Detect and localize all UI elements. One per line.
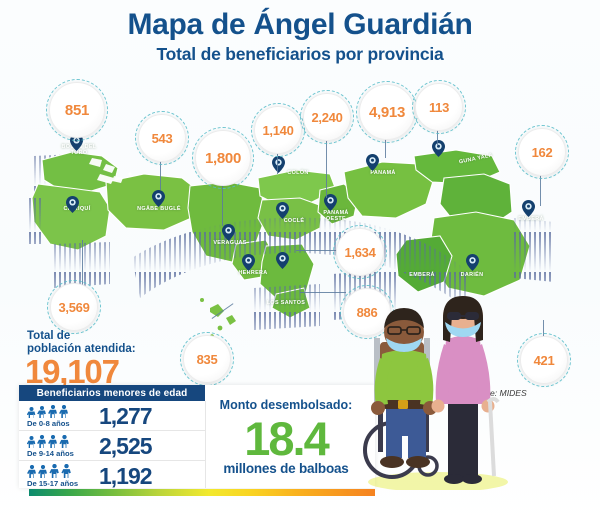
adult-icon: [37, 435, 47, 448]
map-pin-herrera[interactable]: [242, 254, 255, 271]
age-count-value: 1,192: [99, 463, 152, 490]
bubble-veraguas[interactable]: 1,800: [195, 130, 251, 186]
bubble-embera[interactable]: 162: [518, 128, 566, 176]
map-pin-veraguas[interactable]: [222, 224, 235, 241]
map-label-panama-oeste: PANAMÁOESTE: [312, 210, 360, 223]
child-icon: [27, 436, 36, 448]
map-pin-ngabe-bugle[interactable]: [152, 190, 165, 207]
adult-icon: [48, 435, 58, 448]
map-pin-guna-yala[interactable]: [432, 140, 445, 157]
map-pin-panama[interactable]: [366, 154, 379, 171]
bubble-stem-los-santos: [300, 292, 346, 293]
child-icon: [27, 407, 36, 418]
bubble-chiriqui[interactable]: 3,569: [50, 283, 98, 331]
illustration-wheelchair-user-and-caregiver: [362, 274, 508, 490]
bubble-stem-panama-oeste: [326, 136, 327, 198]
infographic-root: Mapa de Ángel Guardián Total de benefici…: [0, 0, 600, 526]
age-table: Beneficiarios menores de edad De 0-8 año…: [19, 385, 205, 490]
map-pin-cocle[interactable]: [276, 202, 289, 219]
page-title: Mapa de Ángel Guardián: [0, 8, 600, 42]
family-icon-group: [27, 404, 69, 418]
map-pin-chiriqui[interactable]: [66, 196, 79, 213]
table-row: De 0-8 años 1,277: [19, 401, 205, 431]
adult-icon: [59, 435, 70, 448]
adult-icon: [49, 464, 60, 478]
map-pin-embera[interactable]: [522, 200, 535, 217]
azuero-hatch: [254, 284, 320, 330]
table-row: De 9-14 años 2,525: [19, 431, 205, 461]
bubble-panama-oeste[interactable]: 2,240: [303, 93, 351, 141]
adult-icon: [61, 464, 72, 478]
page-subtitle: Total de beneficiarios por provincia: [0, 44, 600, 65]
monto-unit: millones de balboas: [206, 461, 366, 476]
monto-label: Monto desembolsado:: [206, 398, 366, 412]
map-pin-los-santos[interactable]: [276, 252, 289, 269]
age-range-label: De 0-8 años: [27, 419, 70, 428]
adult-icon: [27, 465, 37, 478]
color-gradient-bar: [29, 489, 375, 496]
adult-icon: [48, 405, 58, 418]
adult-icon: [59, 405, 69, 418]
age-count-value: 1,277: [99, 403, 152, 430]
age-range-label: De 9-14 años: [27, 449, 74, 458]
bubble-darien[interactable]: 421: [520, 336, 568, 384]
bubble-colon[interactable]: 1,140: [254, 106, 302, 154]
bubble-cocle[interactable]: 1,634: [336, 228, 384, 276]
map-pin-darien[interactable]: [466, 254, 479, 271]
family-icon-group: [27, 434, 70, 448]
bubble-panama[interactable]: 4,913: [359, 84, 415, 140]
age-range-label: De 15-17 años: [27, 479, 78, 488]
bubble-bocas-del-toro[interactable]: 851: [49, 82, 105, 138]
bubble-ngabe-bugle[interactable]: 543: [138, 114, 186, 162]
map-label-los-santos: LOS SANTOS: [258, 300, 314, 306]
bubble-guna-yala[interactable]: 113: [415, 83, 463, 131]
table-row: De 15-17 años 1,192: [19, 461, 205, 490]
adult-icon: [38, 465, 48, 478]
age-table-header: Beneficiarios menores de edad: [19, 385, 205, 401]
age-count-value: 2,525: [99, 433, 152, 460]
child-icon: [37, 406, 47, 418]
family-icon-group: [27, 464, 72, 478]
monto-value: 18.4: [206, 413, 366, 465]
map-pin-colon[interactable]: [272, 156, 285, 173]
